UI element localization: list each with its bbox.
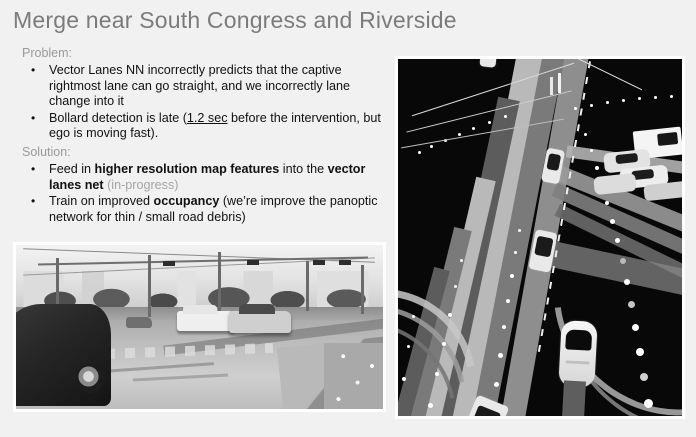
list-item: • Train on improved occupancy (we’re imp… xyxy=(22,194,382,225)
ego-vehicle xyxy=(558,320,597,388)
bollard-marker xyxy=(558,73,561,93)
bullet-text: Feed in higher resolution map features i… xyxy=(49,162,365,192)
photo-ego-wheel xyxy=(75,363,105,393)
list-item: • Vector Lanes NN incorrectly predicts t… xyxy=(22,63,382,110)
emphasis-underline: 1.2 sec xyxy=(187,111,228,125)
emphasis-bold: occupancy xyxy=(154,194,220,208)
photo-utility-pole xyxy=(361,265,364,314)
problem-bullet-list: • Vector Lanes NN incorrectly predicts t… xyxy=(22,63,382,142)
ego-planned-path xyxy=(561,380,586,416)
status-note: (in-progress) xyxy=(104,178,179,192)
bullet-text: Train on improved occupancy (we’re impro… xyxy=(49,194,378,224)
av-lane-visualization xyxy=(398,59,682,416)
photo-pavement-seam xyxy=(104,363,214,374)
photo-traffic-signal xyxy=(163,261,175,266)
bullet-dot-icon: • xyxy=(31,111,35,127)
dashcam-street-photo xyxy=(16,245,383,409)
tracked-vehicle-distant xyxy=(479,59,496,68)
av-visualization-frame xyxy=(395,56,685,419)
bullet-dot-icon: • xyxy=(31,162,35,178)
photo-pavement-seam xyxy=(133,374,228,382)
photo-traffic-signal xyxy=(313,260,325,265)
photo-distant-vehicle xyxy=(126,317,152,328)
bollard-marker xyxy=(550,77,553,95)
list-item: • Bollard detection is late (1.2 sec bef… xyxy=(22,111,382,142)
problem-heading: Problem: xyxy=(22,45,382,62)
bullet-text: Bollard detection is late (1.2 sec befor… xyxy=(49,111,381,141)
photo-utility-pole xyxy=(148,255,151,317)
bullet-text: Vector Lanes NN incorrectly predicts tha… xyxy=(49,63,350,108)
slide-canvas: Merge near South Congress and Riverside … xyxy=(0,0,696,437)
photo-crossing-vehicle xyxy=(229,311,291,333)
photo-traffic-signal xyxy=(339,260,351,265)
photo-utility-pole xyxy=(306,261,309,310)
ego-windshield xyxy=(565,329,592,350)
page-title: Merge near South Congress and Riverside xyxy=(13,7,573,34)
photo-gravel-shoulder xyxy=(324,343,383,409)
list-item: • Feed in higher resolution map features… xyxy=(22,162,382,193)
solution-bullet-list: • Feed in higher resolution map features… xyxy=(22,162,382,225)
ego-hood-line xyxy=(565,360,589,364)
photo-traffic-signal xyxy=(247,260,259,265)
slide-body: Problem: • Vector Lanes NN incorrectly p… xyxy=(22,45,382,227)
emphasis-bold: higher resolution map features xyxy=(95,162,280,176)
photo-utility-pole xyxy=(218,252,221,311)
dashcam-photo-frame xyxy=(13,242,386,412)
solution-heading: Solution: xyxy=(22,144,382,161)
bullet-dot-icon: • xyxy=(31,63,35,79)
photo-crossing-vehicle xyxy=(177,311,235,331)
bullet-dot-icon: • xyxy=(31,194,35,210)
